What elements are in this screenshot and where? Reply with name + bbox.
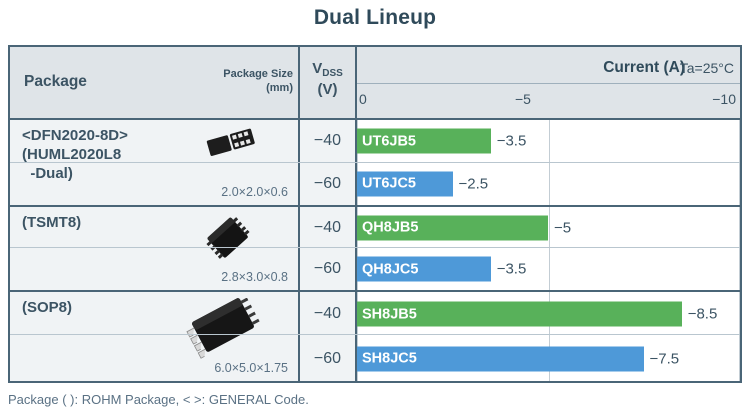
subrow-divider-3	[10, 334, 740, 335]
row-divider-header	[10, 118, 740, 120]
dual-lineup-figure: Dual Lineup Package Package Size (mm) VD…	[0, 0, 750, 420]
footnote: Package ( ): ROHM Package, < >: GENERAL …	[8, 392, 309, 407]
subrow-divider-1	[10, 162, 740, 163]
row-divider-2	[10, 290, 740, 292]
column-divider-vdss	[355, 47, 357, 381]
page-title: Dual Lineup	[0, 6, 750, 30]
column-divider-package	[298, 47, 300, 381]
subrow-divider-2	[10, 247, 740, 248]
row-divider-1	[10, 205, 740, 207]
table-rules	[10, 47, 740, 381]
lineup-table: Package Package Size (mm) VDSS (V) Curre…	[8, 45, 742, 383]
